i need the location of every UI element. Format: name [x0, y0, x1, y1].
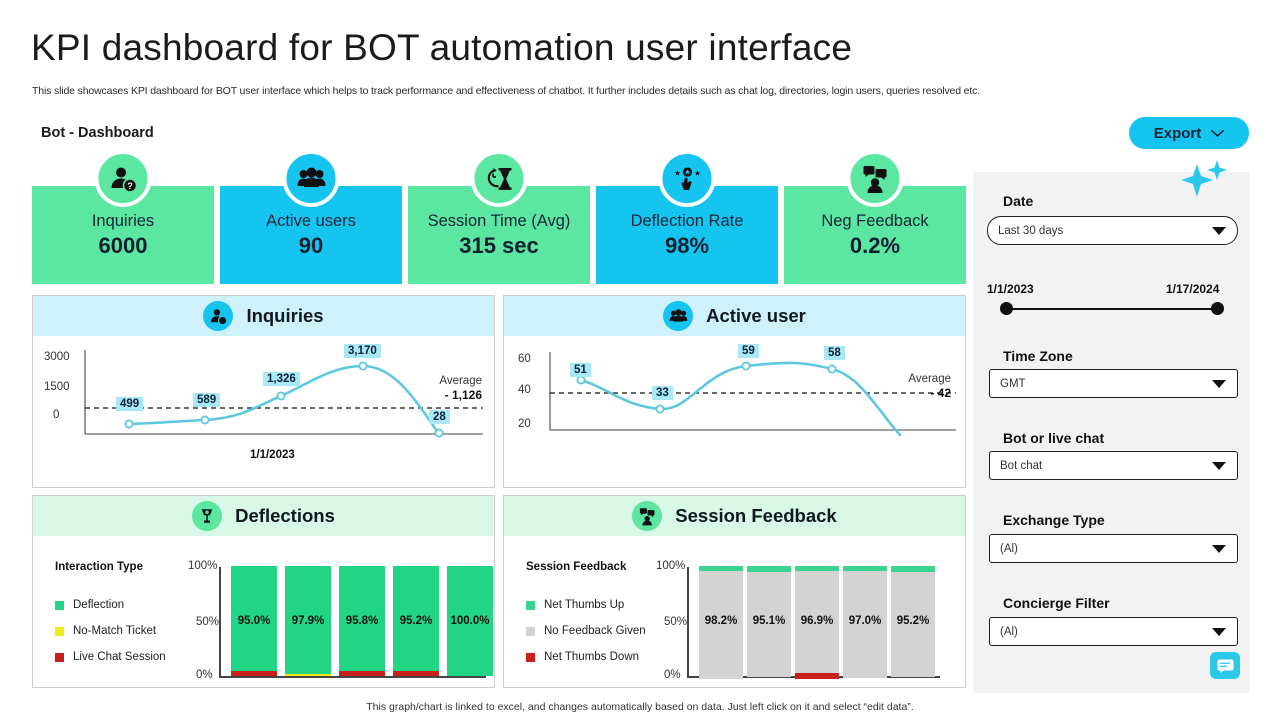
users-group-icon [283, 150, 340, 207]
y-tick-label: 50% [196, 616, 219, 628]
deflection-shield-icon [192, 501, 222, 531]
bar-value-label: 96.9% [801, 615, 834, 627]
legend-swatch [55, 627, 64, 636]
kpi-card-session-time[interactable]: Session Time (Avg) 315 sec [408, 186, 590, 284]
kpi-value: 0.2% [850, 233, 900, 259]
kpi-value: 6000 [99, 233, 148, 259]
average-label: Average [908, 372, 951, 386]
kpi-value: 90 [299, 233, 323, 259]
chevron-down-icon [1212, 227, 1226, 235]
x-axis-line [219, 676, 486, 678]
filter-label-bot-or-live-chat: Bot or live chat [1003, 430, 1104, 446]
user-question-icon [203, 301, 233, 331]
legend-label: No Feedback Given [544, 625, 646, 637]
legend-title: Interaction Type [55, 561, 143, 573]
average-label: Average [439, 374, 482, 388]
filter-label-exchange-type: Exchange Type [1003, 512, 1105, 528]
chart-header-inquiries: Inquiries [33, 296, 494, 336]
chart-canvas-inquiries: 0 1500 3000 499 589 1,326 3,170 28 [33, 336, 494, 487]
bar-value-label: 100.0% [450, 615, 489, 627]
kpi-label: Deflection Rate [631, 212, 744, 231]
kpi-label: Session Time (Avg) [428, 212, 571, 231]
bar-value-label: 97.9% [292, 615, 325, 627]
page-title: KPI dashboard for BOT automation user in… [31, 27, 852, 69]
users-group-icon [663, 301, 693, 331]
user-question-icon: ? [95, 150, 152, 207]
chart-title: Deflections [235, 505, 335, 527]
legend-label: No-Match Ticket [73, 625, 156, 637]
legend-swatch [526, 627, 535, 636]
legend-item-deflection[interactable]: Deflection [55, 599, 124, 611]
legend-item-no-match-ticket[interactable]: No-Match Ticket [55, 625, 156, 637]
bot-or-live-chat-select-value: Bot chat [1000, 460, 1042, 472]
chart-header-deflections: Deflections [33, 496, 494, 536]
kpi-card-neg-feedback[interactable]: Neg Feedback 0.2% [784, 186, 966, 284]
legend-swatch [55, 653, 64, 662]
date-range-min: 1/1/2023 [987, 282, 1034, 296]
filter-label-time-zone: Time Zone [1003, 348, 1073, 364]
date-select-value: Last 30 days [998, 225, 1063, 237]
chevron-down-icon [1212, 380, 1226, 388]
chat-feedback-icon [632, 501, 662, 531]
y-tick-label: 100% [656, 560, 685, 572]
chart-header-session-feedback: Session Feedback [504, 496, 965, 536]
date-range-slider-handle-right[interactable] [1211, 302, 1224, 315]
chart-panel-session-feedback: Session Feedback Session Feedback Net Th… [503, 495, 966, 688]
legend-label: Net Thumbs Up [544, 599, 624, 611]
svg-text:?: ? [127, 181, 133, 191]
exchange-type-select-value: (Al) [1000, 543, 1018, 555]
sparkle-icon [1180, 160, 1228, 202]
dashboard-title: Bot - Dashboard [41, 125, 154, 141]
export-button-label: Export [1154, 125, 1202, 142]
bar-value-label: 95.0% [238, 615, 271, 627]
bar-column[interactable]: 97.9% [285, 566, 331, 676]
y-tick-label: 0% [664, 669, 681, 681]
page-subtitle: This slide showcases KPI dashboard for B… [32, 85, 980, 97]
chart-canvas-active-user: 20 40 60 51 33 59 58 Average - 42 [504, 336, 965, 487]
chart-title: Session Feedback [675, 505, 836, 527]
chart-title: Active user [706, 305, 806, 327]
chat-bubble-icon [1217, 659, 1234, 673]
chat-widget-button[interactable] [1210, 652, 1240, 679]
legend-item-live-chat-session[interactable]: Live Chat Session [55, 651, 166, 663]
inquiries-line-svg [33, 336, 496, 489]
kpi-card-inquiries[interactable]: ? Inquiries 6000 [32, 186, 214, 284]
average-value: - 1,126 [445, 388, 482, 402]
legend-swatch [526, 601, 535, 610]
concierge-filter-select[interactable]: (Al) [989, 617, 1238, 646]
data-point-label: 58 [824, 346, 845, 360]
data-point-label: 28 [429, 410, 450, 424]
chevron-down-icon [1212, 545, 1226, 553]
kpi-label: Inquiries [92, 212, 154, 231]
filter-label-concierge-filter: Concierge Filter [1003, 595, 1110, 611]
data-point-label: 589 [193, 393, 220, 407]
kpi-label: Active users [266, 212, 356, 231]
date-range-max: 1/17/2024 [1166, 282, 1219, 296]
data-point-label: 1,326 [263, 372, 300, 386]
average-annotation: Average - 1,126 [439, 374, 482, 403]
y-axis-line [687, 567, 689, 677]
click-star-icon [659, 150, 716, 207]
bar-column[interactable]: 95.0% [231, 566, 277, 676]
chart-canvas-session-feedback: Session Feedback Net Thumbs Up No Feedba… [504, 536, 965, 687]
x-axis-label: 1/1/2023 [250, 449, 295, 461]
legend-label: Deflection [73, 599, 124, 611]
average-annotation: Average - 42 [908, 372, 951, 401]
footnote: This graph/chart is linked to excel, and… [0, 701, 1280, 713]
data-point-label: 499 [116, 397, 143, 411]
chart-panel-deflections: Deflections Interaction Type Deflection … [32, 495, 495, 688]
legend-swatch [55, 601, 64, 610]
legend-item-no-feedback-given[interactable]: No Feedback Given [526, 625, 646, 637]
kpi-value: 315 sec [459, 233, 539, 259]
legend-title: Session Feedback [526, 561, 626, 573]
exchange-type-select[interactable]: (Al) [989, 534, 1238, 563]
bar-value-label: 95.8% [346, 615, 379, 627]
date-select[interactable]: Last 30 days [987, 216, 1238, 245]
legend-item-net-thumbs-down[interactable]: Net Thumbs Down [526, 651, 639, 663]
bar-value-label: 95.2% [897, 615, 930, 627]
chevron-down-icon [1212, 628, 1226, 636]
bar-value-label: 98.2% [705, 615, 738, 627]
slide-root: KPI dashboard for BOT automation user in… [0, 0, 1280, 720]
y-axis-line [219, 567, 221, 677]
data-point-label: 51 [570, 363, 591, 377]
legend-swatch [526, 653, 535, 662]
chart-canvas-deflections: Interaction Type Deflection No-Match Tic… [33, 536, 494, 687]
chart-panel-active-user: Active user 20 40 60 51 33 59 58 Average [503, 295, 966, 488]
date-range-slider[interactable] [1006, 308, 1218, 310]
chart-panel-inquiries: Inquiries 0 1500 3000 499 589 [32, 295, 495, 488]
active-user-line-svg [504, 336, 967, 489]
bar-value-label: 95.2% [400, 615, 433, 627]
average-value: - 42 [930, 386, 951, 400]
kpi-value: 98% [665, 233, 709, 259]
bar-column[interactable]: 97.0% [843, 566, 887, 676]
bar-column[interactable]: 95.1% [747, 566, 791, 676]
bar-column[interactable]: 96.9% [795, 566, 839, 676]
y-tick-label: 100% [188, 560, 217, 572]
legend-label: Net Thumbs Down [544, 651, 639, 663]
export-button[interactable]: Export [1129, 117, 1249, 149]
bar-column[interactable]: 100.0% [447, 566, 493, 676]
bar-value-label: 97.0% [849, 615, 882, 627]
y-tick-label: 0% [196, 669, 213, 681]
kpi-label: Neg Feedback [821, 212, 928, 231]
time-zone-select[interactable]: GMT [989, 369, 1238, 398]
filter-label-date: Date [1003, 193, 1033, 209]
bar-column[interactable]: 95.2% [891, 566, 935, 676]
data-point-label: 3,170 [344, 344, 381, 358]
bar-column[interactable]: 95.2% [393, 566, 439, 676]
concierge-filter-select-value: (Al) [1000, 626, 1018, 638]
legend-label: Live Chat Session [73, 651, 166, 663]
data-point-label: 59 [738, 344, 759, 358]
bar-value-label: 95.1% [753, 615, 786, 627]
data-point-label: 33 [652, 386, 673, 400]
legend-item-net-thumbs-up[interactable]: Net Thumbs Up [526, 599, 624, 611]
chevron-down-icon [1212, 462, 1226, 470]
bar-column[interactable]: 95.8% [339, 566, 385, 676]
bot-or-live-chat-select[interactable]: Bot chat [989, 451, 1238, 480]
date-range-slider-handle-left[interactable] [1000, 302, 1013, 315]
kpi-card-deflection-rate[interactable]: Deflection Rate 98% [596, 186, 778, 284]
chart-header-active-user: Active user [504, 296, 965, 336]
chevron-down-icon [1211, 130, 1224, 137]
hourglass-clock-icon [471, 150, 528, 207]
chat-feedback-icon [847, 150, 904, 207]
y-tick-label: 50% [664, 616, 687, 628]
bar-column[interactable]: 98.2% [699, 566, 743, 676]
chart-title: Inquiries [246, 305, 323, 327]
kpi-card-active-users[interactable]: Active users 90 [220, 186, 402, 284]
time-zone-select-value: GMT [1000, 378, 1026, 390]
